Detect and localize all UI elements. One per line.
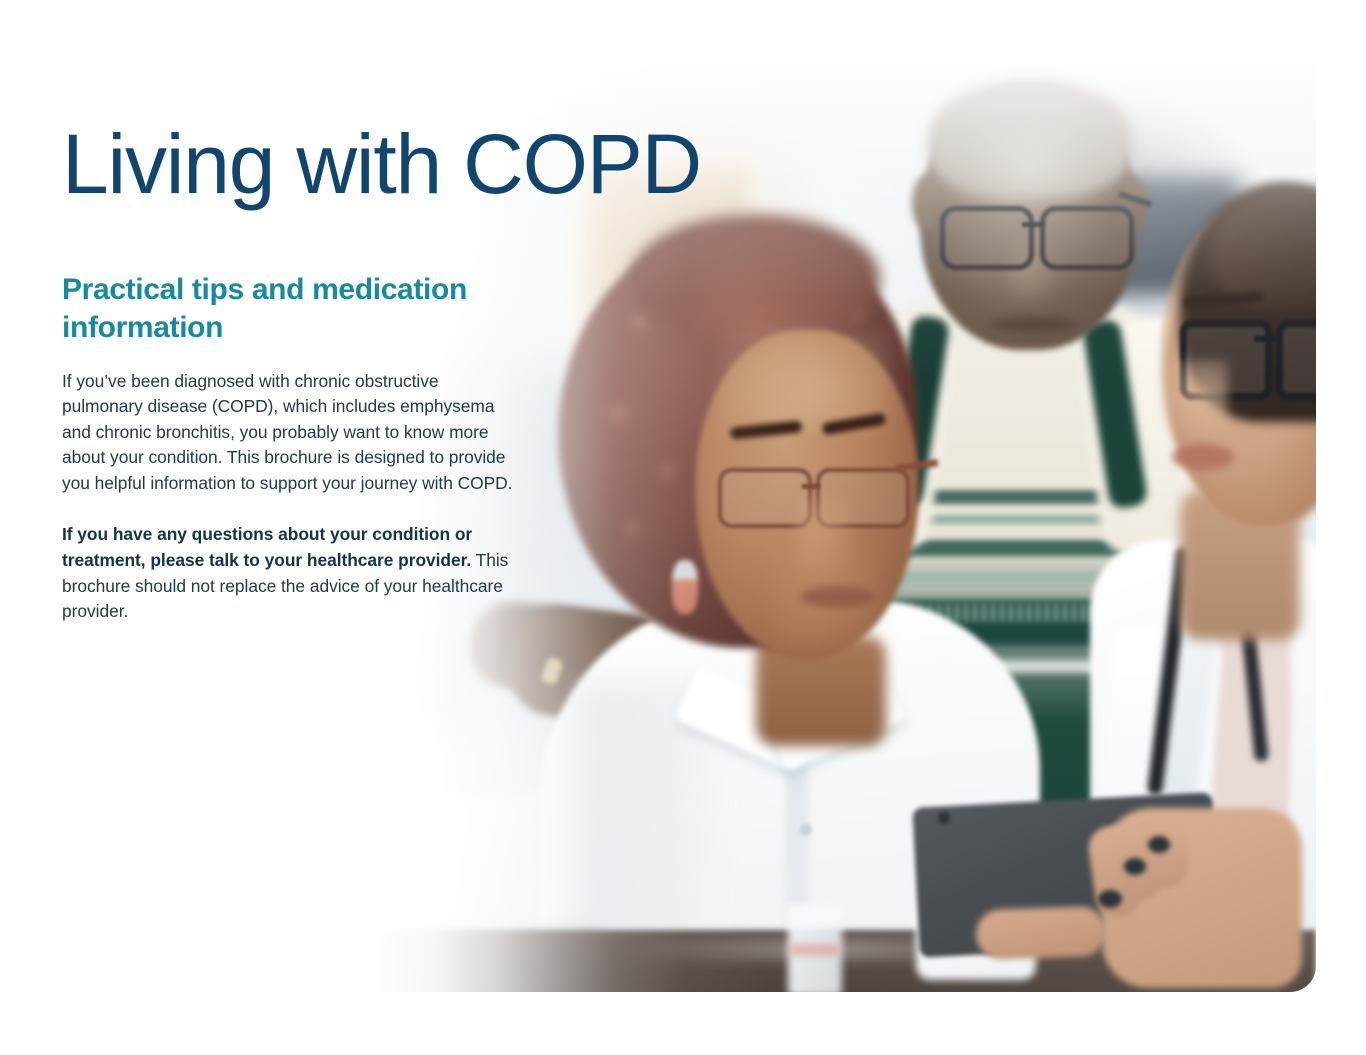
- pill-bottle-cap: [786, 904, 844, 926]
- shirt-button: [800, 824, 812, 836]
- older-man-mouth: [990, 316, 1076, 332]
- earring: [672, 560, 698, 614]
- pill-bottle-label: [790, 944, 840, 956]
- fingernail: [1124, 858, 1146, 875]
- finger: [1145, 823, 1189, 888]
- doctor-thumb: [975, 906, 1107, 961]
- background-object: [405, 640, 465, 720]
- older-woman-lips: [800, 586, 876, 608]
- fingernail: [1148, 836, 1170, 853]
- advice-paragraph: If you have any questions about your con…: [62, 496, 514, 624]
- doctor-nose: [1162, 360, 1228, 434]
- eyeglasses-bridge: [1022, 222, 1044, 227]
- text-column: Living with COPD Practical tips and medi…: [62, 0, 532, 625]
- eyeglasses-icon: [1040, 206, 1134, 270]
- subheading: Practical tips and medication informatio…: [62, 206, 482, 347]
- older-man-ear-left: [912, 174, 942, 230]
- older-woman-hair-crown: [630, 214, 880, 344]
- eyeglasses-bridge: [802, 484, 820, 489]
- doctor-lips: [1172, 444, 1234, 470]
- page-title: Living with COPD: [62, 0, 532, 206]
- fingernail: [1098, 890, 1122, 908]
- tablet-camera-icon: [938, 812, 950, 824]
- older-woman-nose: [796, 496, 850, 574]
- eyeglasses-bridge: [1254, 336, 1280, 342]
- intro-paragraph: If you’ve been diagnosed with chronic ob…: [62, 347, 514, 497]
- advice-bold-text: If you have any questions about your con…: [62, 524, 472, 570]
- older-man-hair: [928, 78, 1132, 198]
- brochure-page: Living with COPD Practical tips and medi…: [0, 0, 1366, 1055]
- eyeglasses-icon: [940, 206, 1034, 270]
- eyeglasses-icon: [1276, 320, 1316, 400]
